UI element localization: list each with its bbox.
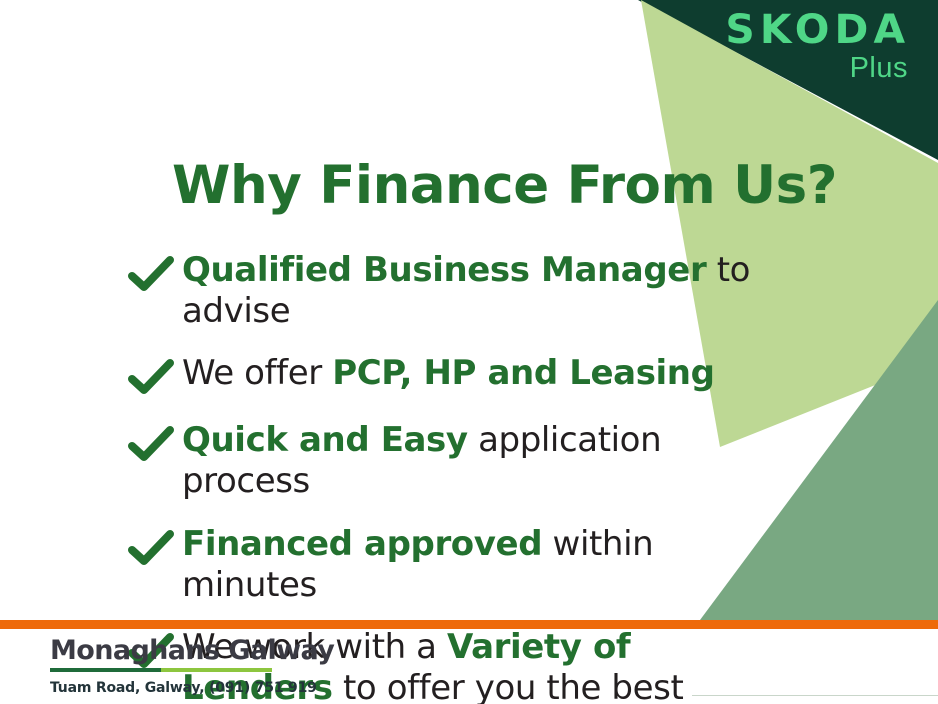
benefit-text: Financed approved within minutes — [174, 524, 788, 606]
benefit-plain: We offer — [182, 353, 332, 393]
skoda-plus-logo: SKODA Plus — [729, 10, 910, 83]
orange-divider — [0, 620, 938, 629]
benefit-text: We offer PCP, HP and Leasing — [174, 353, 715, 394]
footer-rule — [692, 695, 938, 696]
benefit-highlight: Qualified Business Manager — [182, 250, 706, 290]
dealer-footer: Monaghans Galway Tuam Road, Galway, (091… — [50, 636, 334, 696]
dealer-address: Tuam Road, Galway, (091) 751 919 — [50, 680, 334, 696]
benefit-item: Financed approved within minutes — [128, 524, 788, 606]
benefit-item: We offer PCP, HP and Leasing — [128, 353, 788, 399]
check-icon — [128, 357, 174, 399]
skoda-wordmark: SKODA — [725, 10, 910, 50]
check-icon — [128, 254, 174, 296]
benefit-highlight: Quick and Easy — [182, 420, 468, 460]
finance-promo-poster: SKODA Plus Why Finance From Us? Qualifie… — [0, 0, 938, 704]
page-title: Why Finance From Us? — [172, 155, 837, 216]
dealer-underline — [50, 668, 272, 672]
benefit-highlight: Financed approved — [182, 524, 542, 564]
skoda-plus-subtitle: Plus — [729, 54, 908, 83]
check-icon — [128, 424, 174, 466]
benefit-highlight: PCP, HP and Leasing — [332, 353, 714, 393]
dealer-name: Monaghans Galway — [50, 636, 334, 666]
check-icon — [128, 528, 174, 570]
benefit-text: Qualified Business Manager to advise — [174, 250, 788, 332]
benefit-item: Quick and Easy application process — [128, 420, 788, 502]
benefit-item: Qualified Business Manager to advise — [128, 250, 788, 332]
benefit-text: Quick and Easy application process — [174, 420, 788, 502]
